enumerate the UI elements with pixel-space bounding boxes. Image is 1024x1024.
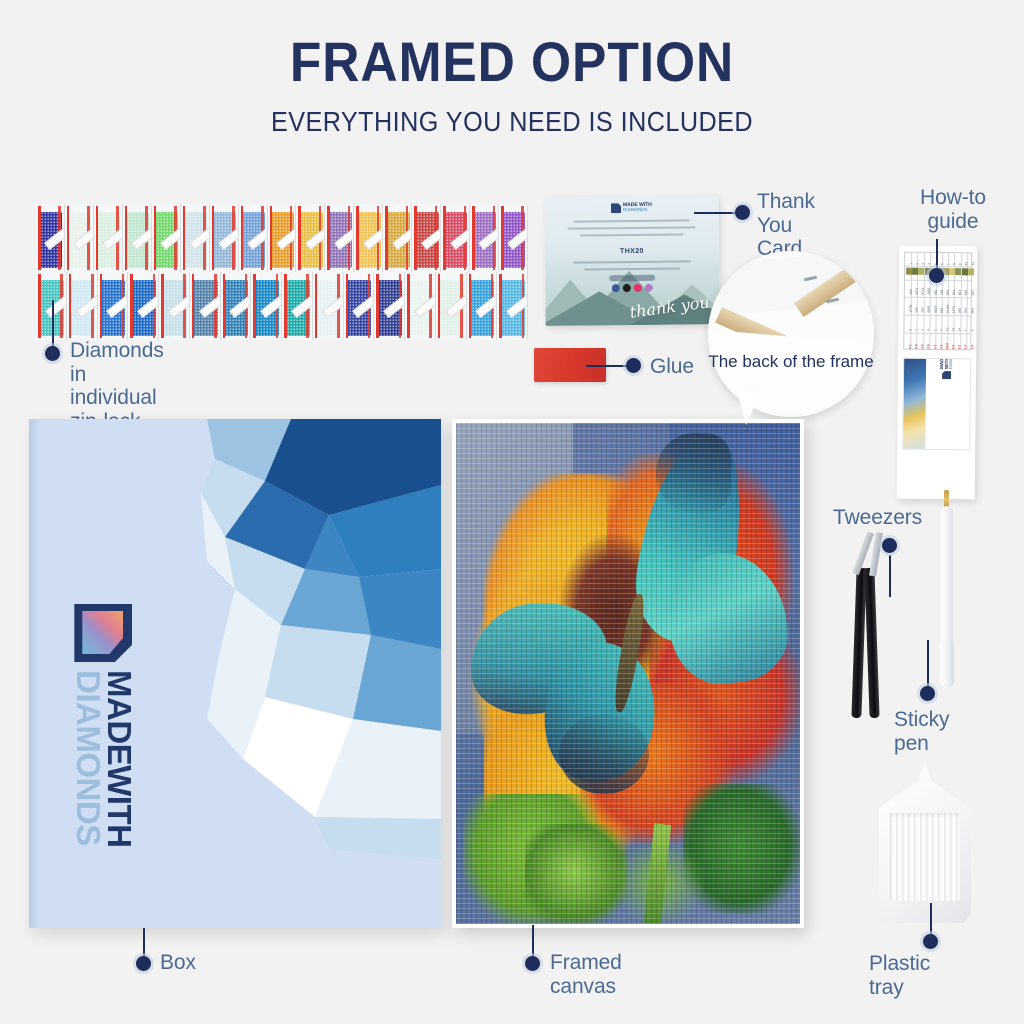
bag-row-bottom <box>36 272 528 340</box>
diamond-bag <box>374 272 405 340</box>
leader-line <box>52 300 54 348</box>
page-subtitle: EVERYTHING YOU NEED IS INCLUDED <box>51 106 973 138</box>
diamond-bag <box>128 272 159 340</box>
color-swatch <box>918 268 924 275</box>
leader-line <box>927 640 929 688</box>
zip-seal <box>407 274 410 338</box>
diamond-bag <box>383 204 412 272</box>
diamond-bag <box>65 204 94 272</box>
color-swatch <box>968 268 974 275</box>
zip-seal <box>376 274 379 338</box>
diamond-bag <box>497 272 528 340</box>
pen-grip <box>940 640 954 688</box>
thank-you-card: MADE WITH DIAMONDS THX20 thank you <box>544 195 719 326</box>
color-chart-table: 116810-3490.12337112810.83371319021.0448… <box>903 252 972 351</box>
tweezers <box>850 528 890 718</box>
table-cell: 3 <box>922 263 925 265</box>
zip-seal <box>241 206 244 270</box>
card-logo-bottom: DIAMONDS <box>623 208 652 213</box>
table-cell: 4 <box>928 329 931 331</box>
box-logo-bottom: DIAMONDS <box>73 670 104 847</box>
table-gridline <box>905 297 971 298</box>
table-cell: 3.1 <box>940 345 943 349</box>
header: FRAMED OPTION EVERYTHING YOU NEED IS INC… <box>0 34 1024 138</box>
zip-seal <box>253 274 256 338</box>
zip-seal <box>284 274 287 338</box>
diamond-bag <box>221 272 252 340</box>
color-swatch <box>912 268 918 275</box>
color-swatch <box>906 268 912 275</box>
zip-seal <box>96 206 99 270</box>
table-cell: 8 <box>953 263 956 265</box>
bag-row-top <box>36 204 528 272</box>
diamond-bag <box>268 204 297 272</box>
leader-line <box>694 212 738 214</box>
table-cell: 3371 <box>916 288 919 295</box>
table-cell: 3713 <box>922 288 925 295</box>
frame-corner-photo <box>708 251 874 417</box>
table-cell: 861 <box>953 290 956 295</box>
diamond-painting-artwork <box>456 423 800 924</box>
social-icon[interactable] <box>634 284 642 292</box>
guide-cover-image <box>903 359 926 451</box>
table-cell: 2 <box>922 329 925 331</box>
table-cell: 4564 <box>928 306 931 313</box>
table-cell: 7 <box>965 330 968 332</box>
table-cell: 1 <box>910 263 913 265</box>
diamond-bag <box>98 272 129 340</box>
zip-seal <box>69 274 72 338</box>
table-cell: 128 <box>916 307 919 312</box>
zip-seal <box>212 206 215 270</box>
box-brand-logo: MADEWITH DIAMONDS <box>73 604 134 847</box>
tweezer-arm-right <box>864 568 879 718</box>
table-gridline <box>905 315 971 316</box>
color-swatch <box>955 268 961 275</box>
table-cell: 646 <box>965 290 968 295</box>
zip-seal <box>130 274 133 338</box>
diamond-bag <box>344 272 375 340</box>
zip-seal <box>315 274 318 338</box>
guide-logo-bottom: DIAMONDS <box>949 358 953 369</box>
plastic-tray <box>879 763 971 923</box>
callout-dot <box>920 686 935 701</box>
table-cell: 1.3 <box>965 345 968 349</box>
diamond-bag <box>405 272 436 340</box>
diamond-bag <box>181 204 210 272</box>
diamond-bag <box>94 204 123 272</box>
table-cell: 0.8 <box>915 344 918 348</box>
frame-back-bubble <box>708 251 874 417</box>
zip-seal <box>499 274 502 338</box>
guide-cover-panel: MADE WITH DIAMONDS <box>902 358 971 451</box>
table-cell: 1.2 <box>959 345 962 349</box>
table-cell: 4164 <box>934 306 937 313</box>
table-cell: 653 <box>959 290 962 295</box>
callout-dot <box>136 956 151 971</box>
facet <box>315 817 441 859</box>
table-cell: 2 <box>916 263 919 265</box>
zip-seal <box>356 206 359 270</box>
diamond-bag <box>251 272 282 340</box>
callout-label-tweezers: Tweezers <box>833 506 922 530</box>
zip-seal <box>469 274 472 338</box>
zip-seal <box>414 206 417 270</box>
leader-line <box>586 365 630 367</box>
card-brand-logo: MADE WITH DIAMONDS <box>611 203 652 213</box>
zip-seal <box>270 206 273 270</box>
zip-seal <box>438 274 441 338</box>
callout-dot <box>882 538 897 553</box>
table-cell: 21164 <box>947 304 950 313</box>
table-gridline <box>904 333 970 334</box>
diamond-bag <box>282 272 313 340</box>
zip-seal <box>298 206 301 270</box>
card-text-line <box>580 233 684 236</box>
diamond-bag <box>123 204 152 272</box>
table-cell: 647 <box>971 290 974 295</box>
diamond-bag <box>67 272 98 340</box>
table-cell: 0.1 <box>909 344 912 348</box>
diamond-bag <box>210 204 239 272</box>
table-cell: 4820 <box>928 288 931 295</box>
diamond-mark-icon <box>74 604 132 662</box>
zip-seal <box>100 274 103 338</box>
table-gridline <box>905 266 971 267</box>
product-box: MADEWITH DIAMONDS <box>29 419 441 928</box>
table-cell: 548 <box>941 290 944 295</box>
social-icon[interactable] <box>612 284 620 292</box>
table-cell: 4 <box>928 263 931 265</box>
table-cell: 1 <box>934 329 937 331</box>
zip-seal <box>67 206 70 270</box>
diamond-bag <box>313 272 344 340</box>
diamond-bag <box>354 204 383 272</box>
diamond-mark-icon <box>942 371 951 379</box>
card-promo-code: THX20 <box>620 248 644 255</box>
table-cell: 12 <box>946 328 949 332</box>
diamond-mark-icon <box>611 203 621 213</box>
table-cell: 1874 <box>953 306 956 313</box>
table-cell: 364 <box>971 308 974 313</box>
zip-seal <box>161 274 164 338</box>
table-cell: 850 <box>934 290 937 295</box>
sticky-pen <box>938 490 956 698</box>
callout-dot <box>45 346 60 361</box>
table-cell: 348 <box>959 308 962 313</box>
page-title: FRAMED OPTION <box>41 34 983 90</box>
diamond-bag <box>159 272 190 340</box>
table-cell: 11.8 <box>946 343 949 349</box>
zip-seal <box>192 274 195 338</box>
callout-dot <box>923 934 938 949</box>
box-logo-top: MADEWITH <box>103 670 134 847</box>
table-cell: 1.4 <box>971 345 974 349</box>
diamond-bag <box>190 272 221 340</box>
table-cell: 14 <box>953 328 956 332</box>
how-to-guide: 116810-3490.12337112810.83371319021.0448… <box>897 246 978 500</box>
callout-label-box: Box <box>160 951 196 975</box>
frame-back-label: The back of the frame <box>708 352 874 372</box>
callout-label-plastic-tray: Plastic tray <box>869 952 930 999</box>
callout-dot <box>525 956 540 971</box>
table-cell: 11 <box>972 262 975 265</box>
zip-seal <box>385 206 388 270</box>
diamond-bag <box>499 204 528 272</box>
zip-seal <box>472 206 475 270</box>
callout-label-sticky-pen: Sticky pen <box>894 708 949 755</box>
leader-line <box>889 555 891 597</box>
diamond-bag <box>412 204 441 272</box>
zip-seal <box>183 206 186 270</box>
color-swatch <box>949 268 955 275</box>
diamond-bag <box>467 272 498 340</box>
zip-seal <box>38 274 41 338</box>
infographic-canvas: FRAMED OPTION EVERYTHING YOU NEED IS INC… <box>0 0 1024 1024</box>
diamond-bag <box>36 204 65 272</box>
diamond-bag <box>239 204 268 272</box>
zip-seal <box>327 206 330 270</box>
social-icon[interactable] <box>645 284 653 292</box>
callout-dot <box>929 268 944 283</box>
table-cell: 663 <box>940 308 943 313</box>
table-cell: 10-34 <box>909 305 912 313</box>
table-cell: 10 <box>966 262 969 266</box>
table-cell: 2.1 <box>952 345 955 349</box>
color-swatch <box>962 268 968 275</box>
table-cell: 9 <box>971 330 974 332</box>
table-cell: 168 <box>910 289 913 294</box>
table-cell: 1.1 <box>934 345 937 349</box>
zip-seal <box>501 206 504 270</box>
zip-seal <box>443 206 446 270</box>
callout-dot <box>735 205 750 220</box>
card-text-line <box>574 219 690 222</box>
framed-canvas <box>452 419 804 928</box>
color-swatch <box>943 268 949 275</box>
table-cell: 9 <box>909 329 912 331</box>
card-social-icons <box>612 284 653 292</box>
diamond-bag <box>441 204 470 272</box>
diamond-bag <box>152 204 181 272</box>
tray-grooves <box>890 813 960 901</box>
card-handle-pill <box>609 275 655 281</box>
table-cell: 264 <box>965 308 968 313</box>
zip-seal <box>38 206 41 270</box>
table-cell: 9 <box>959 263 962 265</box>
zip-seal <box>346 274 349 338</box>
table-cell: 6 <box>941 263 944 265</box>
zip-seal <box>125 206 128 270</box>
table-cell: 190 <box>922 308 925 313</box>
callout-label-how-to-guide: How-to guide <box>893 186 1013 233</box>
table-cell: 2.8 <box>928 344 931 348</box>
guide-brand-logo: MADE WITH DIAMONDS <box>940 358 954 380</box>
social-icon[interactable] <box>623 284 631 292</box>
diamond-bag <box>470 204 499 272</box>
table-cell: 4 <box>940 329 943 331</box>
zip-seal <box>223 274 226 338</box>
table-cell: 7 <box>947 263 950 265</box>
diamond-bag <box>325 204 354 272</box>
table-cell: 681 <box>947 290 950 295</box>
table-cell: 14 <box>959 328 962 332</box>
zip-seal <box>154 206 157 270</box>
callout-label-glue: Glue <box>650 355 694 379</box>
diamond-bag <box>436 272 467 340</box>
callout-dot <box>626 358 641 373</box>
table-cell: 1.0 <box>921 344 924 348</box>
diamond-bag <box>296 204 325 272</box>
card-text-line <box>568 226 696 229</box>
callout-label-framed-canvas: Framed canvas <box>550 951 622 998</box>
table-cell: 1 <box>915 329 918 331</box>
